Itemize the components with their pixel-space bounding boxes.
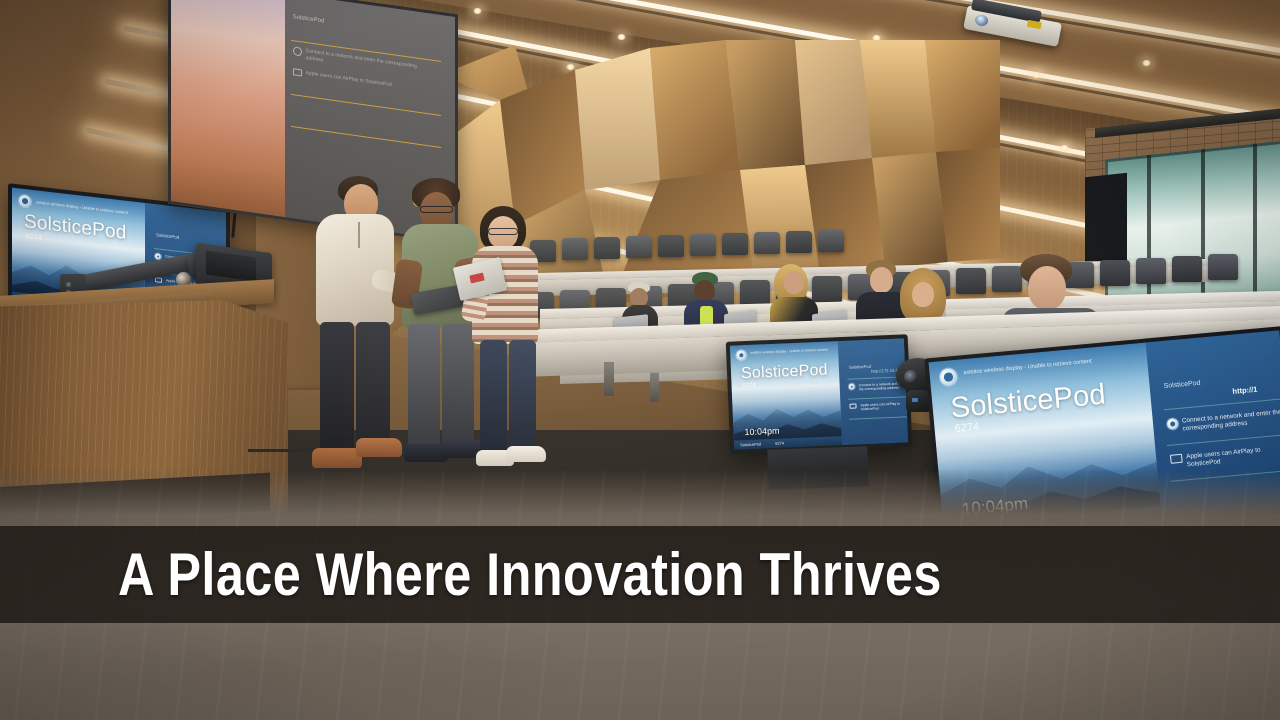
lecture-hall-screenshot: solstice wireless display - Unable to re… (0, 0, 1280, 720)
head (870, 267, 893, 293)
display-center-screen: solstice wireless display - Unable to re… (730, 338, 908, 449)
shoe-right (356, 438, 402, 457)
solstice-badge-icon (849, 384, 855, 390)
display-room-code: 6274 (742, 383, 756, 390)
head (694, 280, 715, 302)
leg-left (408, 324, 440, 450)
leg-left (480, 340, 507, 456)
leg-right (356, 322, 390, 448)
page-title: A Place Where Innovation Thrives (118, 545, 942, 605)
head (1028, 266, 1066, 310)
head (784, 271, 804, 294)
display-clock: 10:04pm (744, 426, 779, 437)
airplay-icon (293, 68, 302, 76)
solstice-badge-icon (1167, 418, 1179, 430)
glasses-icon (420, 206, 453, 213)
leg-left (320, 322, 354, 454)
display-product-name: SolsticePod (741, 362, 828, 384)
airplay-icon (849, 403, 856, 408)
glasses-icon (488, 228, 518, 235)
shoe-right (506, 446, 546, 462)
standing-group (310, 170, 560, 520)
projection-wallpaper (171, 0, 285, 217)
solstice-badge-icon (19, 194, 31, 207)
solstice-badge-icon (293, 46, 302, 56)
leg-right (509, 340, 536, 456)
head (912, 282, 934, 307)
display-center: solstice wireless display - Unable to re… (726, 334, 913, 454)
panel-heading: SolsticePod (849, 364, 871, 370)
taskbar-code: 6274 (761, 440, 784, 446)
shoe-left (312, 448, 362, 468)
display-room-code: 6274 (954, 421, 979, 435)
airplay-icon (1170, 454, 1183, 464)
instruction-text: Apple users can AirPlay to SolsticePod (306, 70, 392, 89)
zipper (358, 222, 360, 248)
taskbar-product: SolsticePod (734, 441, 761, 447)
title-banner: A Place Where Innovation Thrives (0, 526, 1280, 623)
projection-heading: SolsticePod (293, 14, 325, 24)
leg-right (442, 324, 474, 450)
